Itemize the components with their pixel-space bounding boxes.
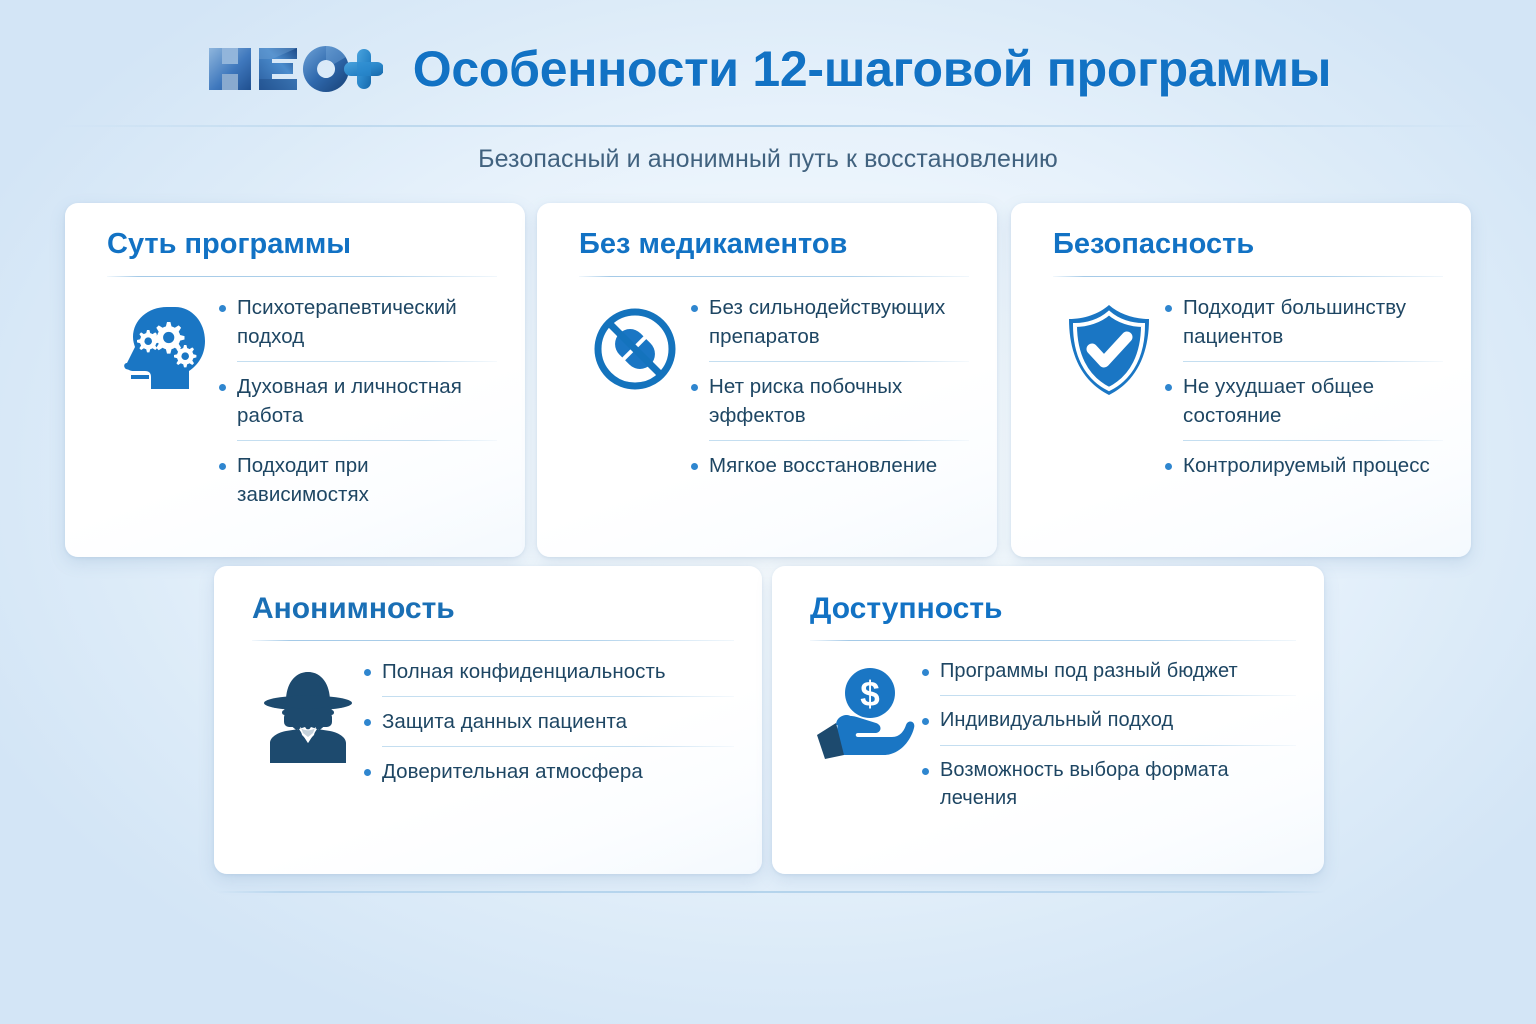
bullet-text: Защита данных пациента (382, 707, 627, 736)
card-sut-programmy[interactable]: Суть программы (65, 203, 525, 557)
bullet-dot-icon (219, 384, 226, 391)
page-subtitle: Безопасный и анонимный путь к восстановл… (0, 145, 1536, 174)
bullet-divider (1183, 440, 1443, 441)
bullet-list: Подходит большинству пациентов Не ухудша… (1165, 293, 1443, 481)
list-item: Защита данных пациента (364, 707, 734, 736)
bullet-dot-icon (364, 669, 371, 676)
list-item: Подходит большинству пациентов (1165, 293, 1443, 351)
bullet-divider (382, 746, 734, 747)
list-item: Подходит при зависимостях (219, 451, 497, 509)
logo-letter-h (209, 48, 251, 90)
list-item: Индивидуальный подход (922, 706, 1296, 734)
bullet-text: Подходит при зависимостях (237, 451, 497, 509)
bullet-dot-icon (922, 768, 929, 775)
list-item: Нет риска побочных эффектов (691, 372, 969, 430)
bullet-text: Без сильнодействующих препаратов (709, 293, 969, 351)
card-dostupnost[interactable]: Доступность $ Программы (772, 566, 1324, 874)
card-title: Без медикаментов (579, 229, 969, 261)
bullet-dot-icon (219, 463, 226, 470)
bullet-list: Психотерапевтический подход Духовная и л… (219, 293, 497, 510)
bullet-text: Подходит большинству пациентов (1183, 293, 1443, 351)
list-item: Полная конфиденциальность (364, 657, 734, 686)
logo-letter-o (303, 46, 349, 92)
page-title: Особенности 12-шаговой программы (413, 44, 1331, 94)
bullet-dot-icon (691, 305, 698, 312)
card-bez-medikamentov[interactable]: Без медикаментов Без сильнодействующих п (537, 203, 997, 557)
list-item: Возможность выбора формата лечения (922, 756, 1296, 813)
bullet-divider (1183, 361, 1443, 362)
bullet-text: Доверительная атмосфера (382, 757, 643, 786)
logo-plus (344, 49, 383, 89)
header: Особенности 12-шаговой программы (0, 0, 1536, 126)
bullet-divider (940, 695, 1296, 696)
bullet-list: Программы под разный бюджет Индивидуальн… (922, 657, 1296, 813)
list-item: Духовная и личностная работа (219, 372, 497, 430)
head-gears-icon (115, 301, 211, 397)
title-divider (252, 640, 734, 641)
icon-container (107, 293, 219, 397)
bullet-text: Нет риска побочных эффектов (709, 372, 969, 430)
bullet-divider (940, 745, 1296, 746)
bullet-divider (382, 696, 734, 697)
card-bezopasnost[interactable]: Безопасность Подходит большинству пациен… (1011, 203, 1471, 557)
list-item: Психотерапевтический подход (219, 293, 497, 351)
bullet-dot-icon (1165, 463, 1172, 470)
bullet-dot-icon (364, 769, 371, 776)
bullet-text: Полная конфиденциальность (382, 657, 666, 686)
bullet-dot-icon (1165, 384, 1172, 391)
bullet-text: Программы под разный бюджет (940, 657, 1238, 685)
neo-plus-logo (205, 42, 383, 96)
bullet-text: Психотерапевтический подход (237, 293, 497, 351)
infographic-canvas: Особенности 12-шаговой программы Безопас… (0, 0, 1536, 1024)
icon-container (579, 293, 691, 397)
list-item: Доверительная атмосфера (364, 757, 734, 786)
bullet-text: Духовная и личностная работа (237, 372, 497, 430)
card-title: Анонимность (252, 592, 734, 625)
shield-check-icon (1061, 301, 1157, 399)
bullet-list: Полная конфиденциальность Защита данных … (364, 657, 734, 786)
bullet-dot-icon (691, 463, 698, 470)
bullet-text: Индивидуальный подход (940, 706, 1173, 734)
bullet-dot-icon (1165, 305, 1172, 312)
footer-divider (216, 891, 1326, 893)
card-title: Суть программы (107, 229, 497, 261)
list-item: Контролируемый процесс (1165, 451, 1443, 480)
bullet-divider (237, 440, 497, 441)
bullet-dot-icon (691, 384, 698, 391)
hand-coin-icon: $ (814, 665, 918, 761)
title-divider (1053, 276, 1443, 277)
list-item: Мягкое восстановление (691, 451, 969, 480)
bullet-divider (709, 361, 969, 362)
card-title: Доступность (810, 592, 1296, 625)
list-item: Не ухудшает общее состояние (1165, 372, 1443, 430)
bullet-divider (237, 361, 497, 362)
bullet-text: Контролируемый процесс (1183, 451, 1430, 480)
title-divider (810, 640, 1296, 641)
list-item: Без сильнодействующих препаратов (691, 293, 969, 351)
bullet-text: Не ухудшает общее состояние (1183, 372, 1443, 430)
svg-text:$: $ (860, 675, 879, 714)
bullet-dot-icon (219, 305, 226, 312)
title-divider (579, 276, 969, 277)
bullet-dot-icon (922, 669, 929, 676)
logo-letter-e (259, 48, 297, 90)
title-divider (107, 276, 497, 277)
icon-container: $ (810, 657, 922, 761)
icon-container (1053, 293, 1165, 399)
card-anonimnost[interactable]: Анонимность (214, 566, 762, 874)
bullet-divider (709, 440, 969, 441)
card-title: Безопасность (1053, 229, 1443, 261)
icon-container (252, 657, 364, 767)
header-divider (58, 125, 1478, 127)
bullet-list: Без сильнодействующих препаратов Нет рис… (691, 293, 969, 481)
spy-incognito-icon (256, 665, 360, 767)
bullet-dot-icon (364, 719, 371, 726)
bullet-text: Возможность выбора формата лечения (940, 756, 1296, 813)
no-pills-icon (587, 301, 683, 397)
list-item: Программы под разный бюджет (922, 657, 1296, 685)
bullet-text: Мягкое восстановление (709, 451, 937, 480)
bullet-dot-icon (922, 718, 929, 725)
